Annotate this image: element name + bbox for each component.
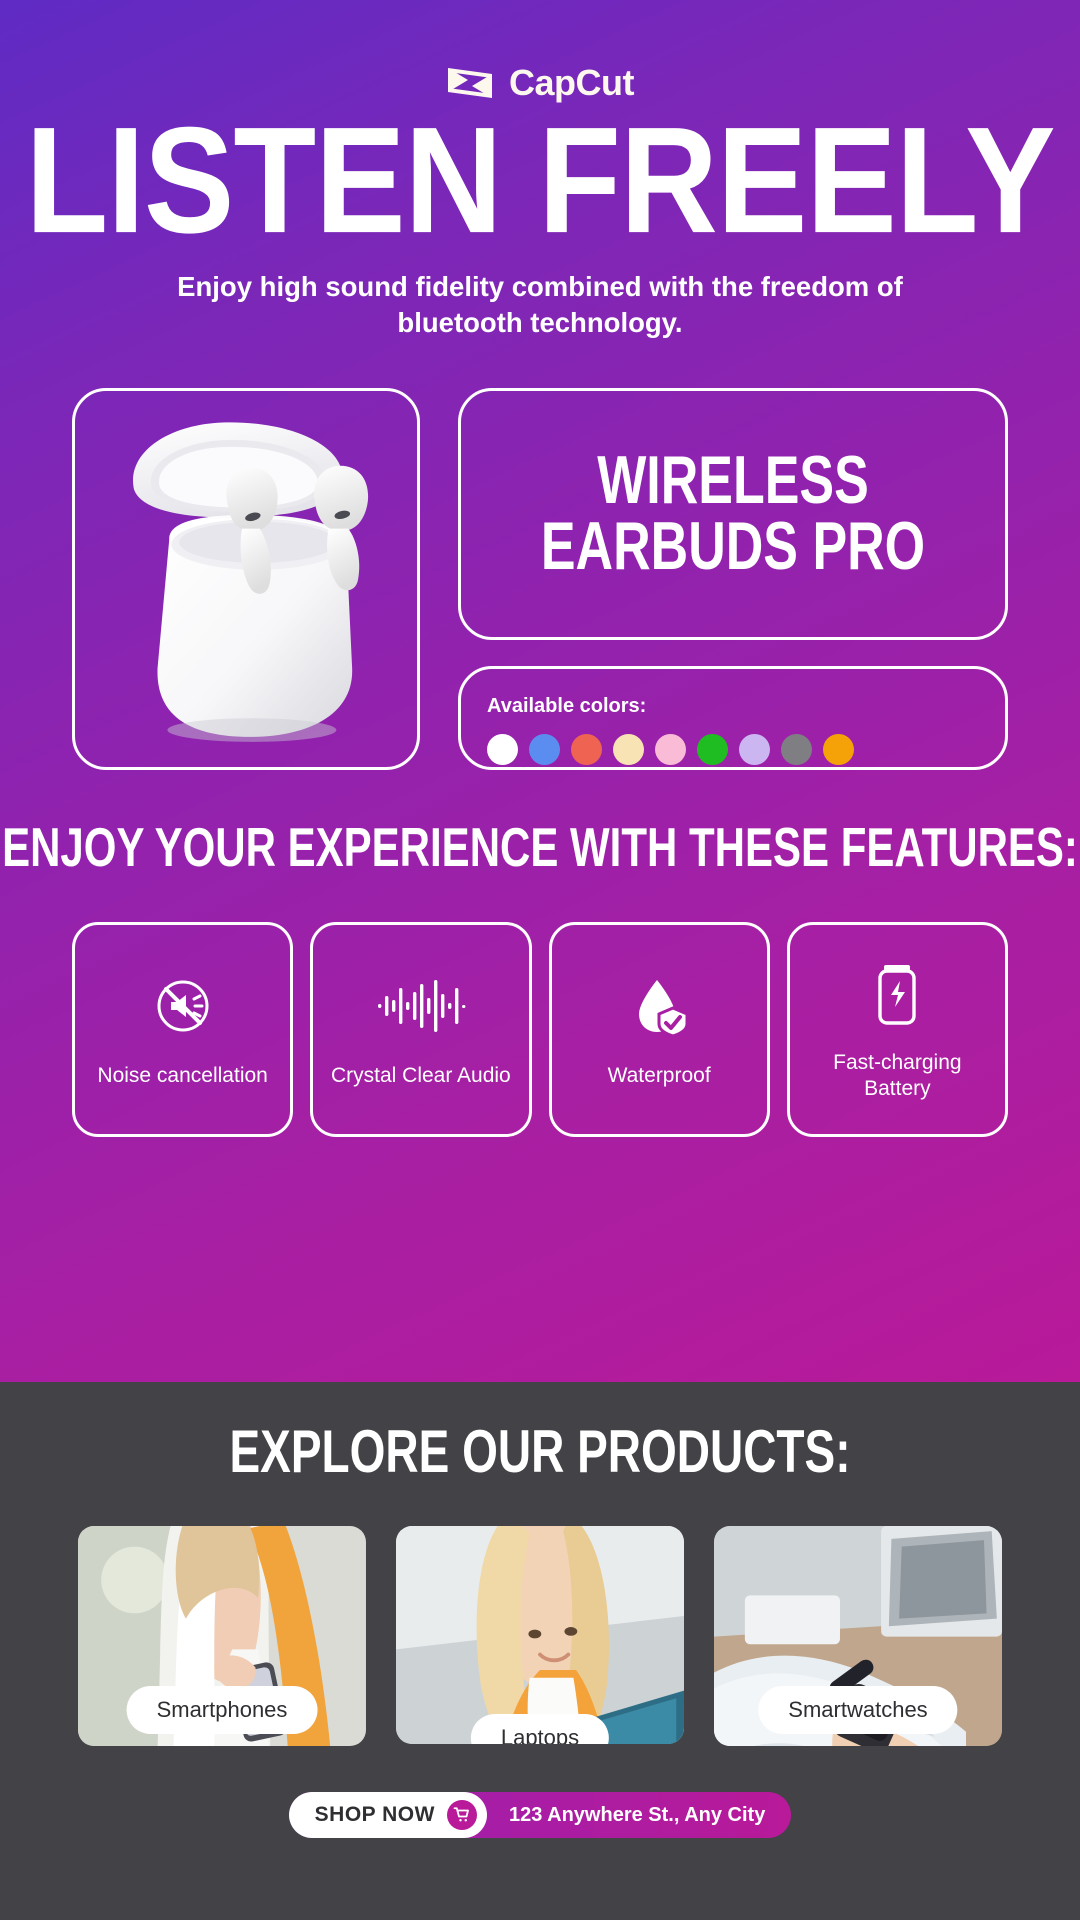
feature-card-noise-cancellation[interactable]: Noise cancellation [72, 922, 293, 1137]
brand-header: CapCut [0, 0, 1080, 104]
feature-label: Fast-charging Battery [798, 1050, 997, 1103]
product-title-line2: EARBUDS PRO [541, 508, 925, 586]
product-pill-label[interactable]: Laptops [471, 1714, 609, 1744]
feature-card-waterproof[interactable]: Waterproof [549, 922, 770, 1137]
product-card-laptops[interactable]: Laptops [396, 1526, 684, 1744]
color-swatch-green[interactable] [697, 734, 728, 765]
available-colors-card: Available colors: [458, 666, 1008, 770]
feature-card-crystal-clear-audio[interactable]: Crystal Clear Audio [310, 922, 531, 1137]
explore-heading: EXPLORE OUR PRODUCTS: [0, 1415, 1080, 1486]
shop-now-label: SHOP NOW [315, 1803, 435, 1827]
hero-section: CapCut LISTEN FREELY Enjoy high sound fi… [0, 0, 1080, 1382]
product-card-smartphones[interactable]: Smartphones [78, 1526, 366, 1746]
color-swatch-lavender[interactable] [739, 734, 770, 765]
shop-now-button[interactable]: SHOP NOW [289, 1792, 487, 1838]
product-showcase-row: WIRELESS EARBUDS PRO Available colors: [72, 388, 1008, 770]
color-swatch-blue[interactable] [529, 734, 560, 765]
capcut-bowtie-icon [446, 66, 494, 100]
page-title: LISTEN FREELY [0, 120, 1080, 244]
water-drop-shield-icon [627, 969, 691, 1043]
earbuds-case-illustration [75, 391, 417, 766]
audio-waveform-icon [376, 969, 466, 1043]
shop-now-cta[interactable]: SHOP NOW 123 Anywhere St., Any City [289, 1792, 792, 1838]
color-swatch-white[interactable] [487, 734, 518, 765]
product-pill-label[interactable]: Smartphones [127, 1686, 318, 1734]
color-swatch-gray[interactable] [781, 734, 812, 765]
woman-using-laptop [396, 1526, 684, 1744]
features-heading: ENJOY YOUR EXPERIENCE WITH THESE FEATURE… [0, 816, 1080, 878]
color-swatch-pink[interactable] [655, 734, 686, 765]
available-colors-label: Available colors: [487, 695, 1005, 718]
poster-root: CapCut LISTEN FREELY Enjoy high sound fi… [0, 0, 1080, 1920]
hero-subheadline: Enjoy high sound fidelity combined with … [155, 269, 925, 342]
product-card-smartwatches[interactable]: Smartwatches [714, 1526, 1002, 1746]
product-photo-card [72, 388, 420, 770]
feature-label: Waterproof [608, 1063, 711, 1089]
features-row: Noise cancellation [72, 922, 1008, 1137]
product-title-card: WIRELESS EARBUDS PRO [458, 388, 1008, 640]
explore-section: EXPLORE OUR PRODUCTS: [0, 1382, 1080, 1920]
cta-row: SHOP NOW 123 Anywhere St., Any City [0, 1792, 1080, 1838]
color-swatch-cream[interactable] [613, 734, 644, 765]
feature-label: Noise cancellation [97, 1063, 267, 1089]
battery-charging-icon [873, 956, 921, 1030]
color-swatch-orange[interactable] [823, 734, 854, 765]
no-noise-icon [151, 969, 215, 1043]
feature-card-fast-charging-battery[interactable]: Fast-charging Battery [787, 922, 1008, 1137]
feature-label: Crystal Clear Audio [331, 1063, 511, 1089]
product-pill-label[interactable]: Smartwatches [758, 1686, 957, 1734]
explore-products-row: Smartphones [78, 1526, 1002, 1746]
address-label: 123 Anywhere St., Any City [487, 1804, 765, 1827]
color-swatch-coral-red[interactable] [571, 734, 602, 765]
color-swatch-list [487, 734, 1005, 765]
product-info-column: WIRELESS EARBUDS PRO Available colors: [458, 388, 1008, 770]
shopping-cart-icon [447, 1800, 477, 1830]
